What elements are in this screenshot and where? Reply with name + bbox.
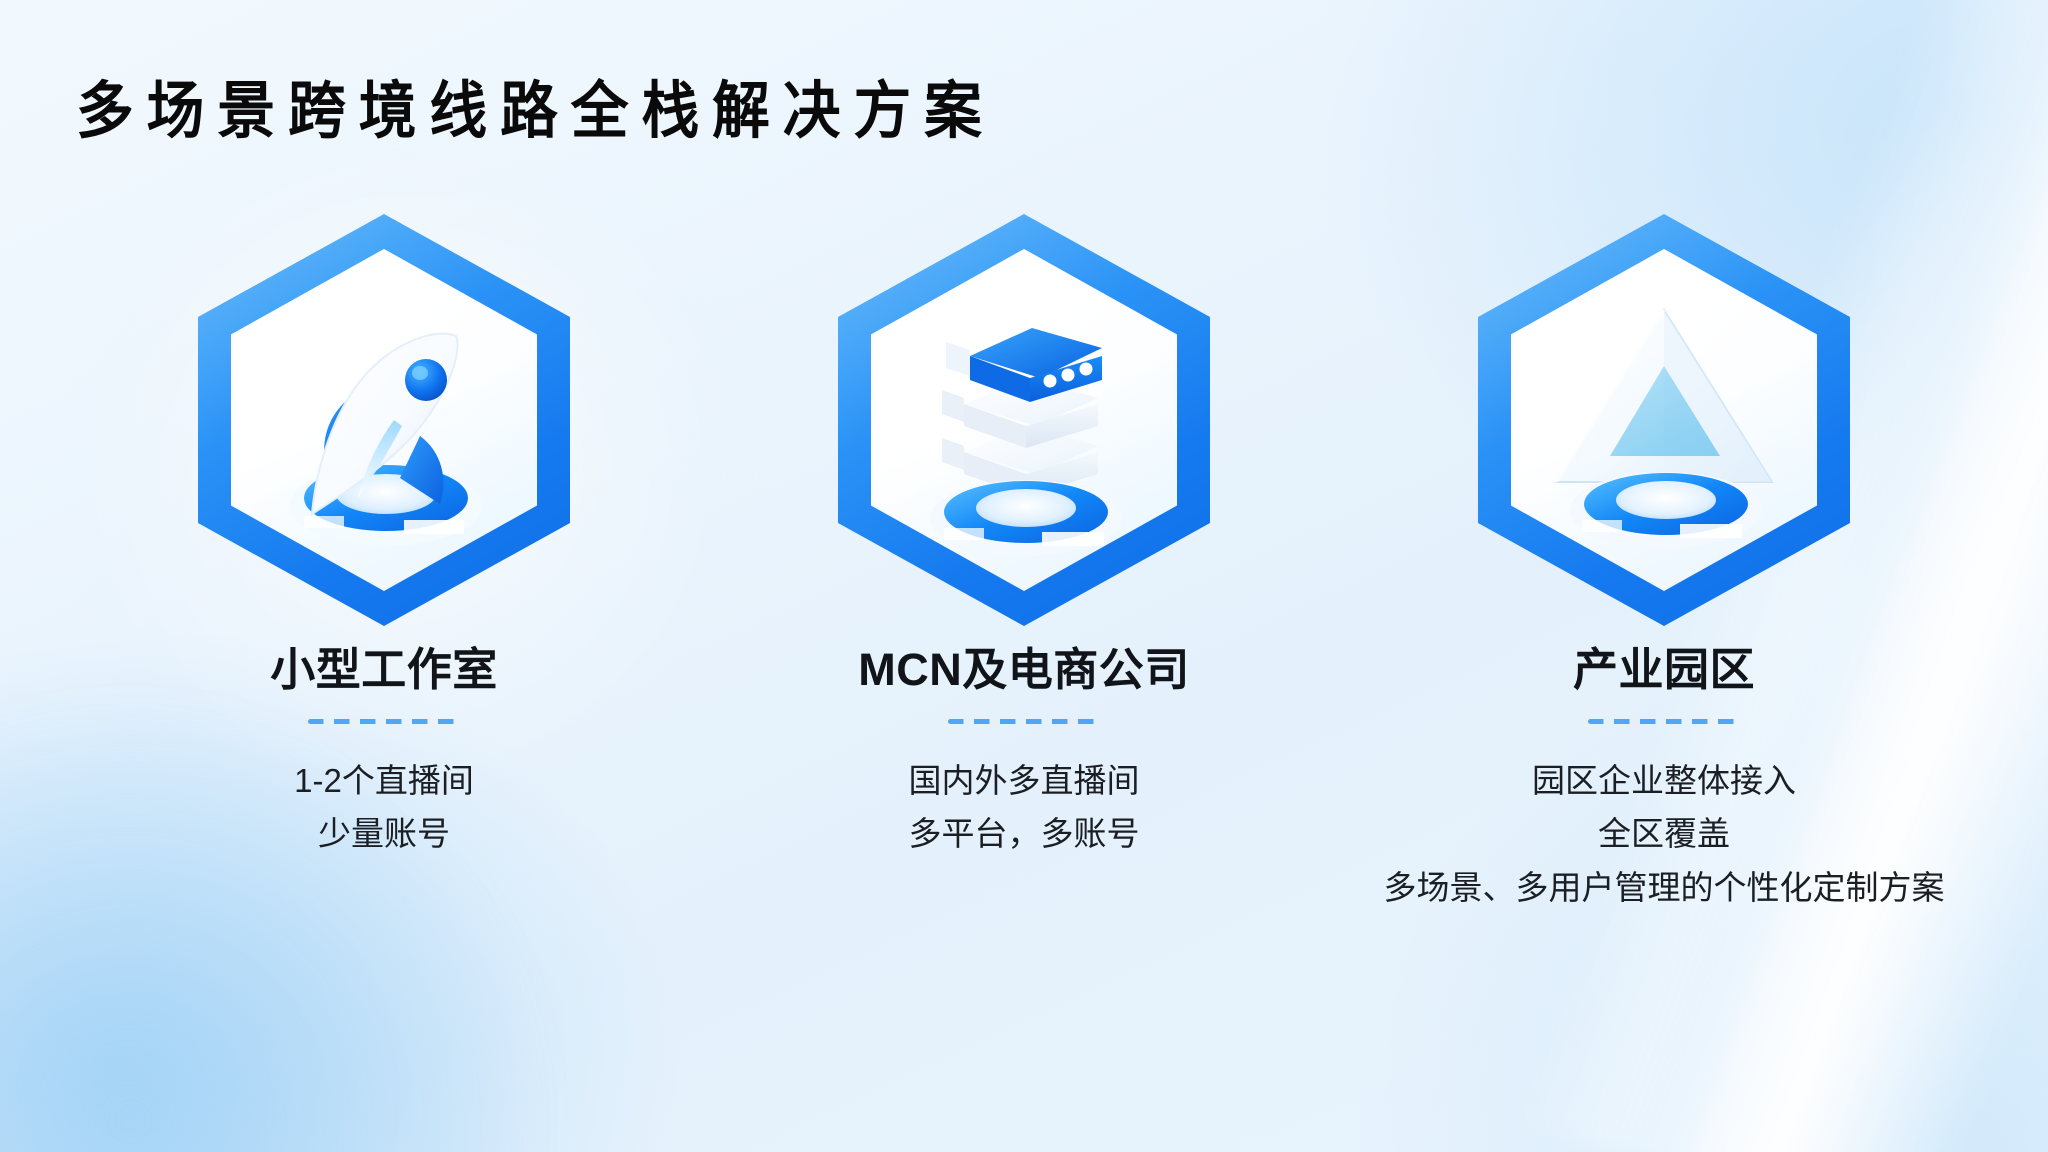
card-body-line: 少量账号 — [294, 807, 474, 860]
card-body-line: 1-2个直播间 — [294, 754, 474, 807]
card-row: 小型工作室 1-2个直播间 少量账号 — [0, 205, 2048, 914]
slide-canvas: 多场景跨境线路全栈解决方案 — [0, 0, 2048, 1152]
card-body: 1-2个直播间 少量账号 — [294, 754, 474, 861]
hex-badge — [189, 205, 579, 635]
scenario-card-small-studio[interactable]: 小型工作室 1-2个直播间 少量账号 — [64, 205, 704, 861]
hex-badge — [829, 205, 1219, 635]
card-divider — [948, 719, 1100, 724]
card-body-line: 多平台，多账号 — [909, 807, 1140, 860]
card-body-line: 全区覆盖 — [1384, 807, 1945, 860]
server-stack-icon — [874, 270, 1174, 570]
scenario-card-industrial-park[interactable]: 产业园区 园区企业整体接入 全区覆盖 多场景、多用户管理的个性化定制方案 — [1344, 205, 1984, 914]
card-divider — [308, 719, 460, 724]
card-title: 小型工作室 — [270, 643, 498, 697]
card-title: MCN及电商公司 — [858, 643, 1189, 697]
hex-badge — [1469, 205, 1859, 635]
page-title: 多场景跨境线路全栈解决方案 — [76, 60, 995, 150]
card-body-line: 国内外多直播间 — [909, 754, 1140, 807]
card-body: 园区企业整体接入 全区覆盖 多场景、多用户管理的个性化定制方案 — [1384, 754, 1945, 914]
card-divider — [1588, 719, 1740, 724]
scenario-card-mcn-ecommerce[interactable]: MCN及电商公司 国内外多直播间 多平台，多账号 — [704, 205, 1344, 861]
card-body-line: 多场景、多用户管理的个性化定制方案 — [1384, 861, 1945, 914]
rocket-icon — [234, 270, 534, 570]
card-title: 产业园区 — [1573, 643, 1755, 697]
card-body-line: 园区企业整体接入 — [1384, 754, 1945, 807]
card-body: 国内外多直播间 多平台，多账号 — [909, 754, 1140, 861]
glass-pyramid-icon — [1514, 270, 1814, 570]
